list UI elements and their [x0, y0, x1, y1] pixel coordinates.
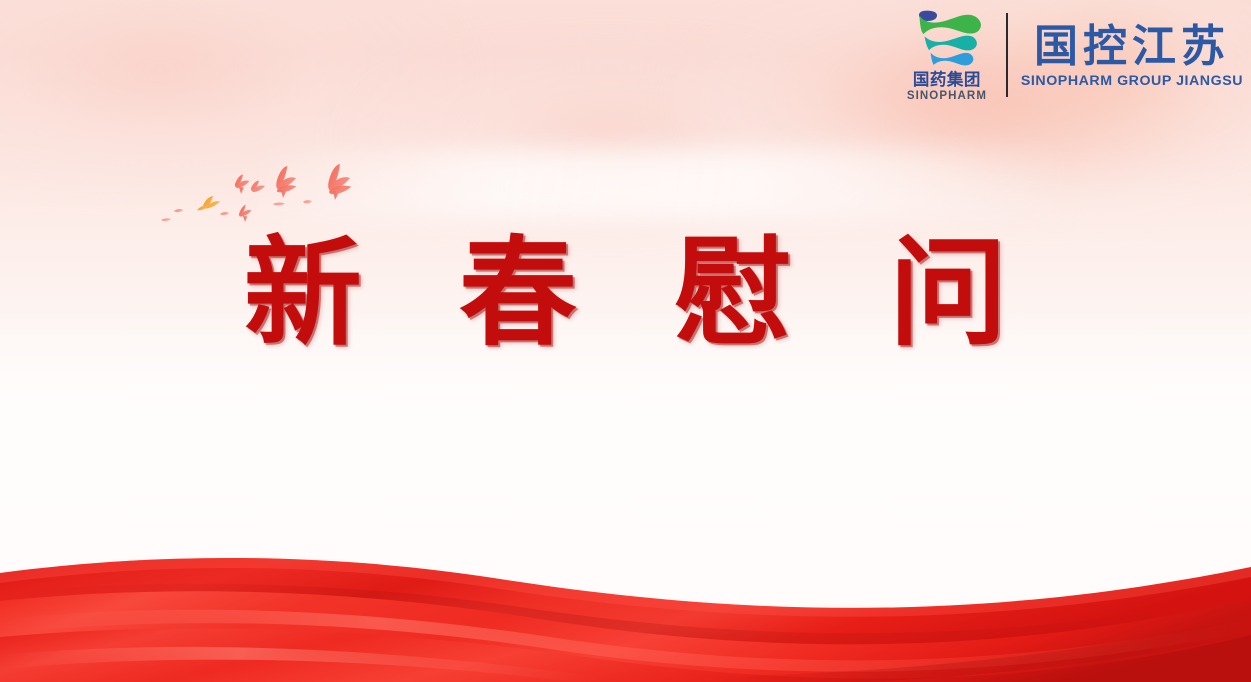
red-silk-ribbon [0, 537, 1251, 682]
sinopharm-ribbon-mark [910, 10, 984, 70]
sinopharm-cn-label: 国药集团 [913, 72, 981, 89]
jiangsu-cn-label: 国控江苏 [1034, 24, 1230, 71]
sinopharm-logo: 国药集团 SINOPHARM [899, 8, 995, 103]
poster-title: 新 春 慰 问 [216, 234, 1035, 352]
jiangsu-en-label: SINOPHARM GROUP JIANGSU [1021, 74, 1243, 88]
watercolor-light-streak [250, 150, 1070, 220]
logo-lockup: 国药集团 SINOPHARM 国控江苏 SINOPHARM GROUP JIAN… [899, 6, 1243, 104]
title-block: 新 春 慰 问 [0, 234, 1251, 352]
poster-canvas: 国药集团 SINOPHARM 国控江苏 SINOPHARM GROUP JIAN… [0, 0, 1251, 682]
logo-divider [1006, 13, 1008, 97]
sinopharm-en-label: SINOPHARM [907, 91, 987, 103]
jiangsu-logo: 国控江苏 SINOPHARM GROUP JIANGSU [1021, 22, 1243, 89]
